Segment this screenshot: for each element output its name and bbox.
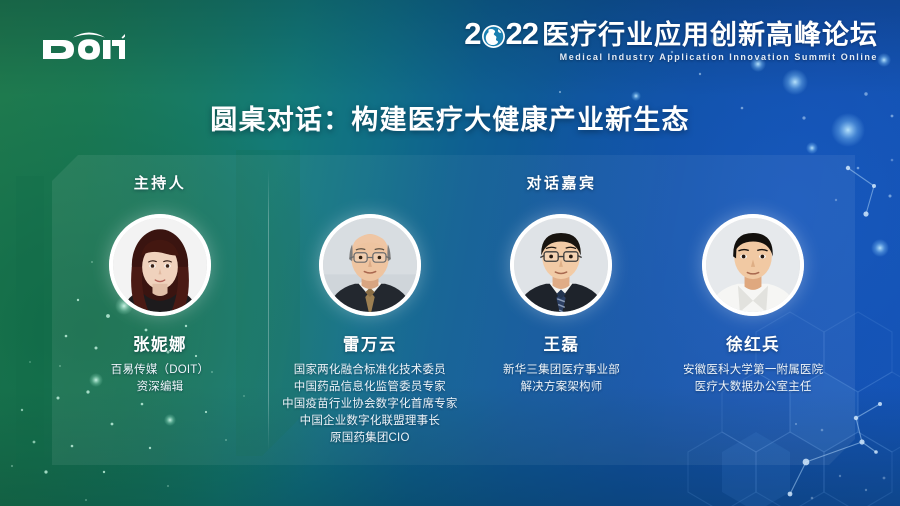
page-title: 圆桌对话：构建医疗大健康产业新生态: [0, 98, 900, 137]
guest-titles: 国家两化融合标准化技术委员 中国药品信息化监管委员专家 中国疫苗行业协会数字化首…: [282, 362, 458, 446]
guest-title-line: 新华三集团医疗事业部: [503, 362, 620, 379]
guests-row: 雷万云 国家两化融合标准化技术委员 中国药品信息化监管委员专家 中国疫苗行业协会…: [268, 193, 855, 446]
event-title-en: Medical Industry Application Innovation …: [560, 53, 878, 62]
event-title-cn: 医疗行业应用创新高峰论坛: [542, 22, 878, 49]
host-titles: 百易传媒（DOIT） 资深编辑: [111, 362, 209, 396]
guests-column: 对话嘉宾: [268, 155, 855, 465]
event-title-cn-row: 2 22 医疗行业应用创新高峰论坛: [464, 18, 878, 49]
guest-title-line: 安徽医科大学第一附属医院: [683, 362, 823, 379]
host-title-line: 资深编辑: [111, 379, 209, 396]
guests-section-label: 对话嘉宾: [268, 155, 855, 193]
globe-icon: [481, 23, 506, 48]
event-logo: 2 22 医疗行业应用创新高峰论坛 Medical Industry Appli…: [464, 18, 878, 62]
avatar: [510, 214, 612, 316]
host-name: 张妮娜: [133, 331, 187, 355]
event-year-digit-2: 2: [464, 18, 480, 49]
guest-title-line: 原国药集团CIO: [282, 430, 458, 447]
host-card[interactable]: 张妮娜 百易传媒（DOIT） 资深编辑: [109, 214, 211, 396]
guest-name: 王磊: [543, 331, 579, 355]
guest-titles: 安徽医科大学第一附属医院 医疗大数据办公室主任: [683, 362, 823, 396]
doit-logo[interactable]: [33, 30, 125, 60]
guest-card[interactable]: 徐红兵 安徽医科大学第一附属医院 医疗大数据办公室主任: [657, 214, 848, 446]
guest-name: 徐红兵: [726, 331, 780, 355]
host-row: 张妮娜 百易传媒（DOIT） 资深编辑: [52, 193, 268, 396]
avatar-photo-xu-hongbing: [706, 218, 800, 312]
guest-card[interactable]: 王磊 新华三集团医疗事业部 解决方案架构师: [466, 214, 657, 446]
guest-title-line: 国家两化融合标准化技术委员: [282, 362, 458, 379]
host-section-label: 主持人: [52, 155, 268, 193]
guest-card[interactable]: 雷万云 国家两化融合标准化技术委员 中国药品信息化监管委员专家 中国疫苗行业协会…: [274, 214, 465, 446]
avatar-photo-lei-wanyun: [323, 218, 417, 312]
avatar: [109, 214, 211, 316]
host-title-line: 百易传媒（DOIT）: [111, 362, 209, 379]
slide-stage: 2 22 医疗行业应用创新高峰论坛 Medical Industry Appli…: [0, 0, 900, 506]
event-year: 2 22: [464, 18, 538, 49]
guest-title-line: 中国药品信息化监管委员专家: [282, 379, 458, 396]
guest-name: 雷万云: [343, 331, 397, 355]
avatar: [319, 214, 421, 316]
guest-titles: 新华三集团医疗事业部 解决方案架构师: [503, 362, 620, 396]
guest-title-line: 中国企业数字化联盟理事长: [282, 413, 458, 430]
avatar-photo-zhang-nina: [113, 218, 207, 312]
event-year-digit-22: 22: [506, 18, 538, 49]
avatar: [702, 214, 804, 316]
host-column: 主持人: [52, 155, 268, 465]
guest-title-line: 中国疫苗行业协会数字化首席专家: [282, 396, 458, 413]
avatar-photo-wang-lei: [514, 218, 608, 312]
guest-title-line: 解决方案架构师: [503, 379, 620, 396]
speakers-panel: 主持人: [52, 155, 855, 465]
guest-title-line: 医疗大数据办公室主任: [683, 379, 823, 396]
